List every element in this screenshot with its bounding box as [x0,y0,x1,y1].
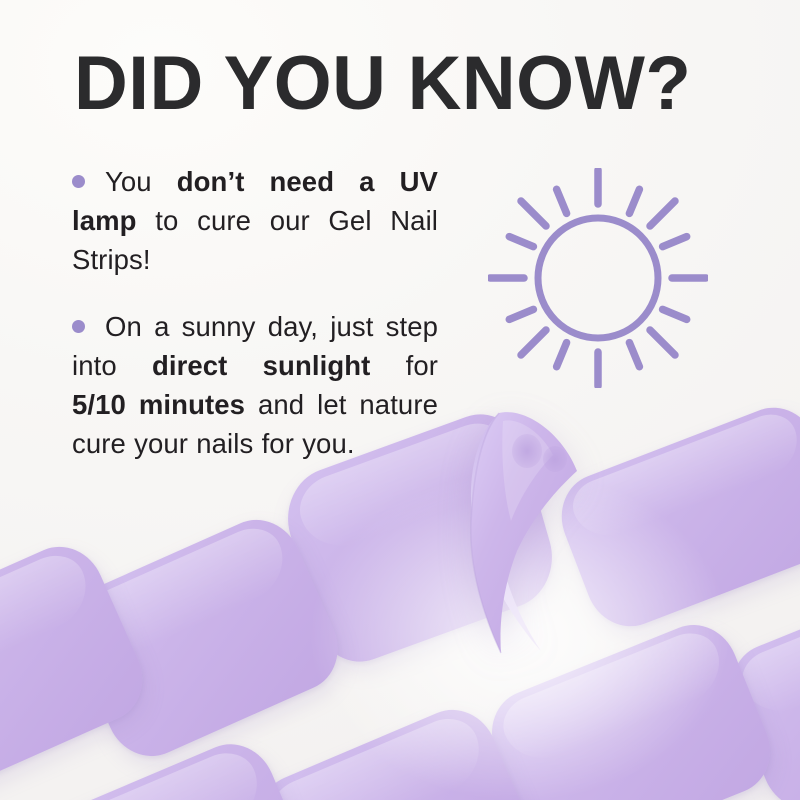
nail-strip [549,395,800,639]
list-item: You don’t need a UV lamp to cure our Gel… [72,162,438,279]
bullet-segment-bold: direct sunlight [152,350,370,381]
bullet-segment-bold: 5/10 minutes [72,389,245,420]
poster-canvas: DID YOU KNOW? You don’t need a UV lamp t… [0,0,800,800]
sun-icon [488,168,708,388]
bullet-list: You don’t need a UV lamp to cure our Gel… [72,162,438,463]
page-title: DID YOU KNOW? [74,46,691,122]
bullet-segment-plain: for [370,350,438,381]
bullet-segment-plain: You [105,166,177,197]
bullet-dot-icon [72,175,85,188]
list-item: On a sunny day, just step into direct su… [72,307,438,463]
peeled-nail-strip [455,405,585,660]
bullet-dot-icon [72,320,85,333]
